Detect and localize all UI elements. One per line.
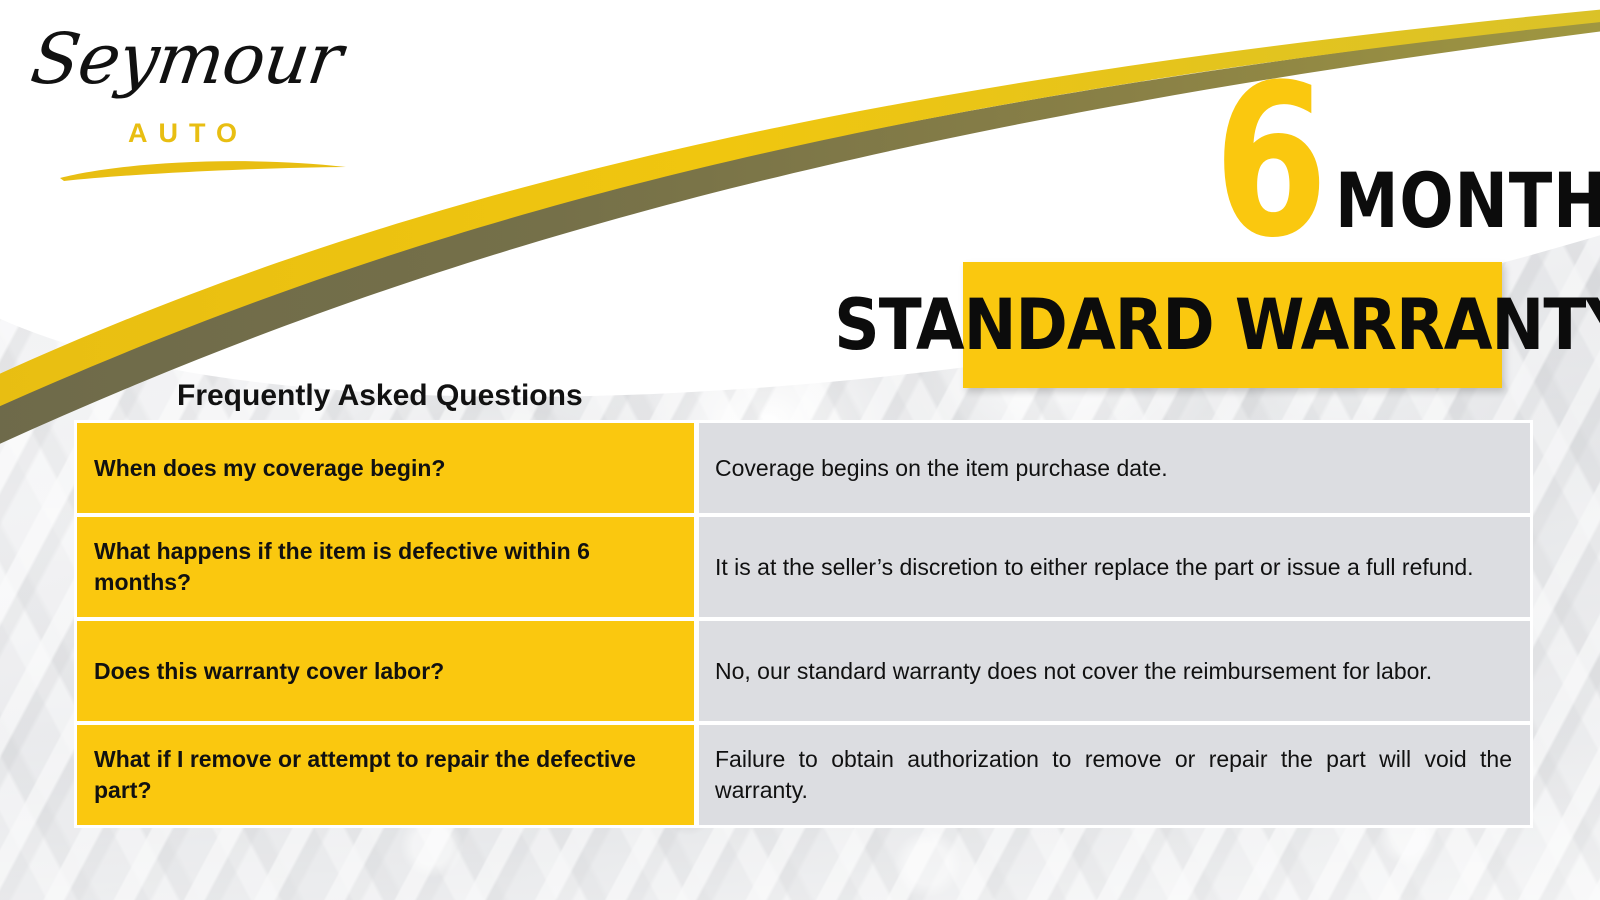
faq-question-text: When does my coverage begin? bbox=[94, 453, 445, 484]
faq-question-text: What happens if the item is defective wi… bbox=[94, 536, 677, 598]
faq-table: When does my coverage begin? Coverage be… bbox=[74, 420, 1533, 828]
faq-answer-text: Coverage begins on the item purchase dat… bbox=[715, 453, 1512, 484]
faq-answer-cell: Failure to obtain authorization to remov… bbox=[699, 725, 1530, 825]
logo-wordmark: Seymour bbox=[27, 24, 346, 94]
faq-answer-cell: No, our standard warranty does not cover… bbox=[699, 621, 1530, 721]
faq-heading: Frequently Asked Questions bbox=[177, 379, 583, 413]
logo-subtitle: AUTO bbox=[128, 118, 248, 149]
warranty-slide: Seymour AUTO 6 MONTH STANDARD WARRANTY F… bbox=[0, 0, 1600, 900]
faq-answer-cell: Coverage begins on the item purchase dat… bbox=[699, 423, 1530, 513]
logo-swoosh-icon bbox=[58, 154, 348, 182]
faq-answer-text: It is at the seller’s discretion to eith… bbox=[715, 552, 1512, 583]
faq-question-cell: What happens if the item is defective wi… bbox=[77, 517, 694, 617]
faq-answer-cell: It is at the seller’s discretion to eith… bbox=[699, 517, 1530, 617]
faq-answer-text: No, our standard warranty does not cover… bbox=[715, 656, 1512, 687]
table-row: What if I remove or attempt to repair th… bbox=[77, 725, 1530, 825]
faq-question-cell: When does my coverage begin? bbox=[77, 423, 694, 513]
standard-warranty-banner: STANDARD WARRANTY bbox=[963, 262, 1502, 388]
faq-question-cell: What if I remove or attempt to repair th… bbox=[77, 725, 694, 825]
table-row: Does this warranty cover labor? No, our … bbox=[77, 621, 1530, 721]
warranty-banner-title: STANDARD WARRANTY bbox=[835, 290, 1600, 360]
faq-question-text: Does this warranty cover labor? bbox=[94, 656, 444, 687]
faq-question-text: What if I remove or attempt to repair th… bbox=[94, 744, 677, 806]
faq-answer-text: Failure to obtain authorization to remov… bbox=[715, 744, 1512, 806]
seymour-auto-logo: Seymour AUTO bbox=[30, 22, 330, 177]
table-row: What happens if the item is defective wi… bbox=[77, 517, 1530, 617]
duration-number: 6 bbox=[1214, 62, 1325, 262]
duration-unit: MONTH bbox=[1335, 166, 1600, 236]
table-row: When does my coverage begin? Coverage be… bbox=[77, 423, 1530, 513]
faq-question-cell: Does this warranty cover labor? bbox=[77, 621, 694, 721]
